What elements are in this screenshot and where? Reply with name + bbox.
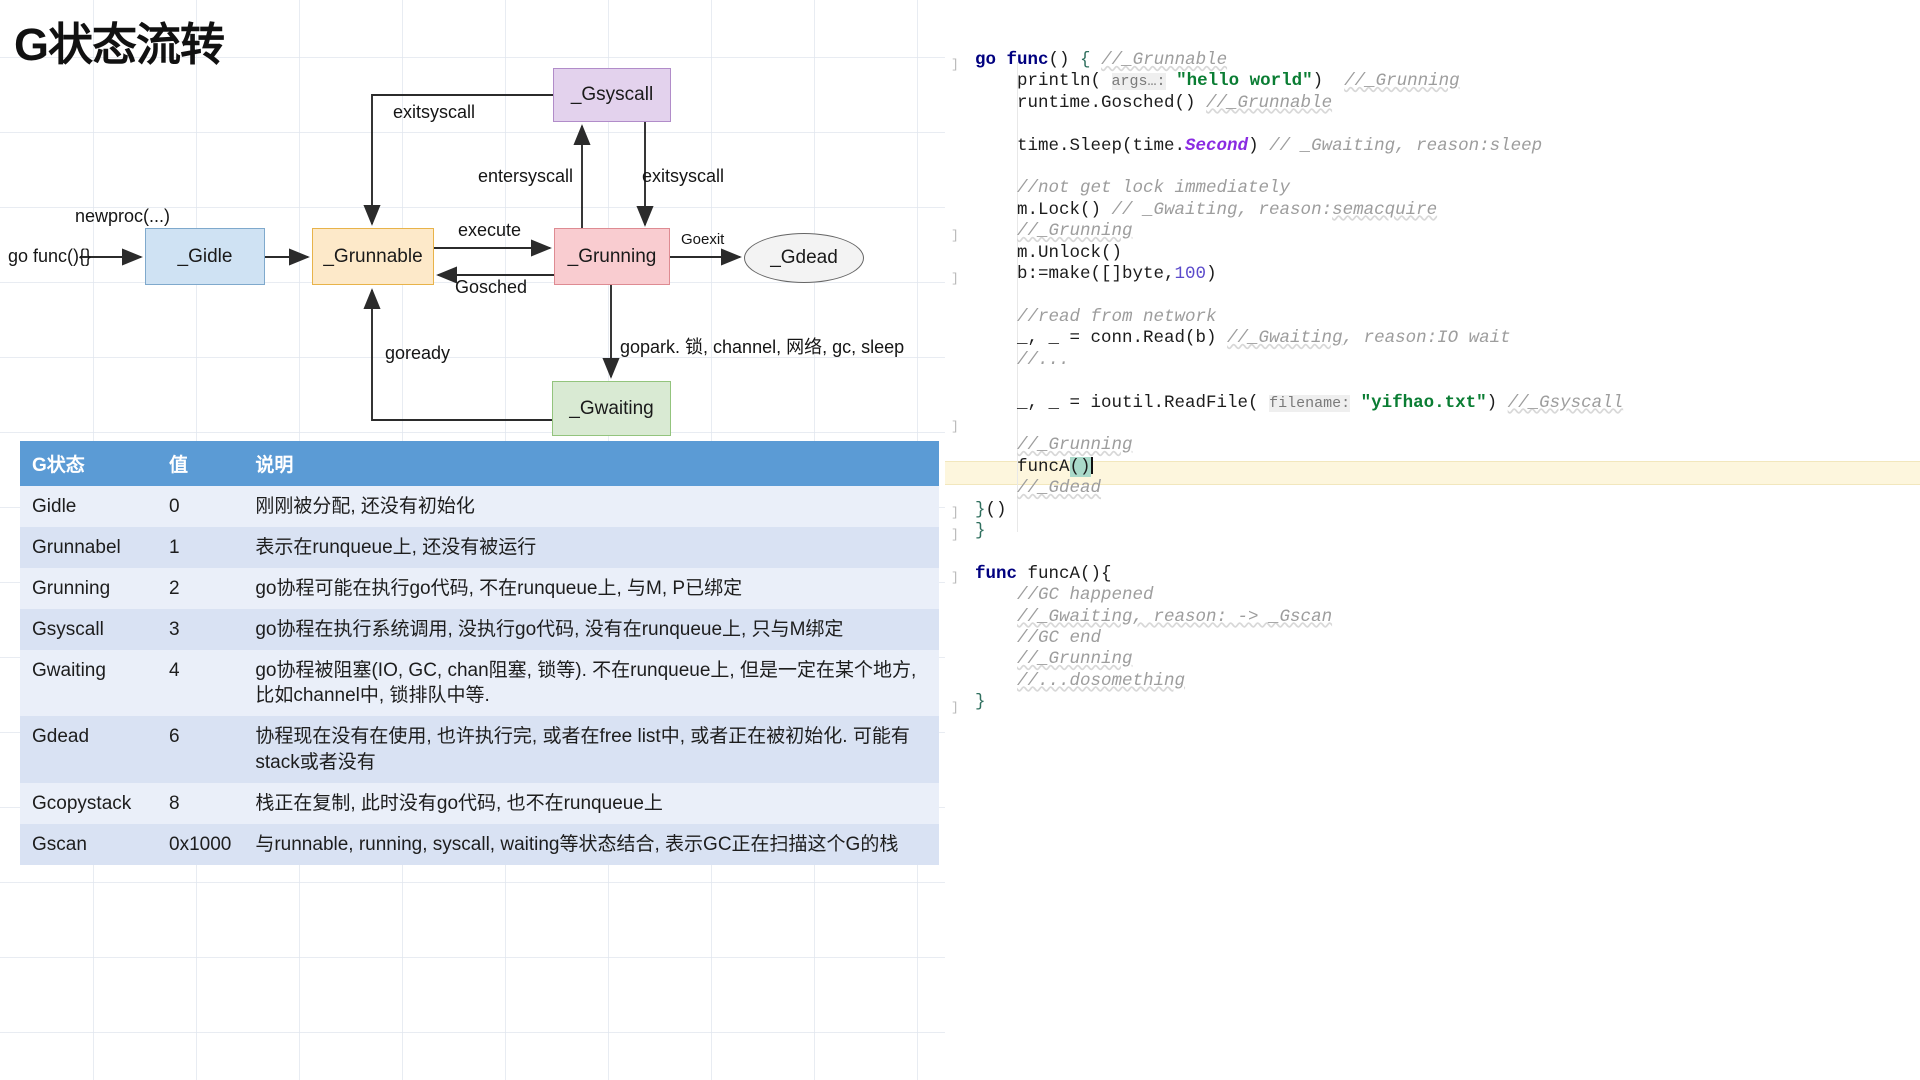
table-row: Grunning 2 go协程可能在执行go代码, 不在runqueue上, 与… <box>20 568 939 609</box>
node-label: _Gwaiting <box>569 398 654 420</box>
column-header-state: G状态 <box>20 441 157 486</box>
fold-marker[interactable]: ] <box>951 57 959 72</box>
cell-value: 4 <box>157 650 243 716</box>
node-grunnable[interactable]: _Grunnable <box>312 228 434 285</box>
edge-label-gosched: Gosched <box>455 277 527 298</box>
editor-gutter[interactable]: ] ] ] ] ] ] ] ] <box>945 0 973 1080</box>
g-state-table: G状态 值 说明 Gidle 0 刚刚被分配, 还没有初始化 Grunnabel… <box>20 441 939 865</box>
fold-marker[interactable]: ] <box>951 419 959 434</box>
slide-left-panel: G状态流转 <box>0 0 945 1080</box>
node-label: _Grunnable <box>323 246 422 268</box>
node-label: _Gdead <box>770 247 838 269</box>
edge-label-exitsyscall-top: exitsyscall <box>393 102 475 123</box>
edge-label-entersyscall: entersyscall <box>478 166 573 187</box>
node-label: _Gsyscall <box>571 84 653 106</box>
edge-label-goexit: Goexit <box>681 231 724 248</box>
cell-value: 6 <box>157 716 243 782</box>
table-row: Gscan 0x1000 与runnable, running, syscall… <box>20 824 939 865</box>
cell-value: 0x1000 <box>157 824 243 865</box>
cell-state: Gsyscall <box>20 609 157 650</box>
cell-value: 2 <box>157 568 243 609</box>
edge-label-exitsyscall-right: exitsyscall <box>642 166 724 187</box>
table-row: Gdead 6 协程现在没有在使用, 也许执行完, 或者在free list中,… <box>20 716 939 782</box>
table-row: Gidle 0 刚刚被分配, 还没有初始化 <box>20 486 939 527</box>
cell-value: 8 <box>157 783 243 824</box>
node-grunning[interactable]: _Grunning <box>554 228 670 285</box>
table-row: Gcopystack 8 栈正在复制, 此时没有go代码, 也不在runqueu… <box>20 783 939 824</box>
cell-desc: go协程被阻塞(IO, GC, chan阻塞, 锁等). 不在runqueue上… <box>243 650 939 716</box>
cell-state: Gwaiting <box>20 650 157 716</box>
node-gidle[interactable]: _Gidle <box>145 228 265 285</box>
fold-marker[interactable]: ] <box>951 700 959 715</box>
edge-label-gopark: gopark. 锁, channel, 网络, gc, sleep <box>620 333 904 359</box>
cell-desc: 与runnable, running, syscall, waiting等状态结… <box>243 824 939 865</box>
fold-marker[interactable]: ] <box>951 271 959 286</box>
cell-desc: 协程现在没有在使用, 也许执行完, 或者在free list中, 或者正在被初始… <box>243 716 939 782</box>
edge-label-entry: go func(){} <box>8 246 91 267</box>
source-code[interactable]: go func() { //_Grunnable println( args…:… <box>975 50 1623 714</box>
code-editor-panel[interactable]: ] ] ] ] ] ] ] ] go func() { //_Grunnable… <box>945 0 1920 1080</box>
cell-state: Gscan <box>20 824 157 865</box>
cell-value: 0 <box>157 486 243 527</box>
cell-desc: go协程可能在执行go代码, 不在runqueue上, 与M, P已绑定 <box>243 568 939 609</box>
cell-desc: 表示在runqueue上, 还没有被运行 <box>243 527 939 568</box>
cell-desc: 栈正在复制, 此时没有go代码, 也不在runqueue上 <box>243 783 939 824</box>
table-row: Grunnabel 1 表示在runqueue上, 还没有被运行 <box>20 527 939 568</box>
fold-marker[interactable]: ] <box>951 570 959 585</box>
cell-state: Grunning <box>20 568 157 609</box>
cell-state: Gidle <box>20 486 157 527</box>
column-header-value: 值 <box>157 441 243 486</box>
cell-desc: go协程在执行系统调用, 没执行go代码, 没有在runqueue上, 只与M绑… <box>243 609 939 650</box>
cell-value: 3 <box>157 609 243 650</box>
edge-label-execute: execute <box>458 220 521 241</box>
node-gsyscall[interactable]: _Gsyscall <box>553 68 671 122</box>
fold-marker[interactable]: ] <box>951 228 959 243</box>
node-gdead[interactable]: _Gdead <box>744 233 864 283</box>
cell-state: Gcopystack <box>20 783 157 824</box>
table-row: Gsyscall 3 go协程在执行系统调用, 没执行go代码, 没有在runq… <box>20 609 939 650</box>
cell-state: Grunnabel <box>20 527 157 568</box>
cell-state: Gdead <box>20 716 157 782</box>
cell-value: 1 <box>157 527 243 568</box>
node-label: _Grunning <box>568 246 657 268</box>
cell-desc: 刚刚被分配, 还没有初始化 <box>243 486 939 527</box>
table-header-row: G状态 值 说明 <box>20 441 939 486</box>
fold-marker[interactable]: ] <box>951 505 959 520</box>
fold-marker[interactable]: ] <box>951 527 959 542</box>
node-label: _Gidle <box>178 246 233 268</box>
state-flow-diagram: _Gidle _Grunnable _Grunning _Gsyscall _G… <box>0 0 945 445</box>
table-row: Gwaiting 4 go协程被阻塞(IO, GC, chan阻塞, 锁等). … <box>20 650 939 716</box>
node-gwaiting[interactable]: _Gwaiting <box>552 381 671 436</box>
column-header-desc: 说明 <box>243 441 939 486</box>
edge-label-goready: goready <box>385 343 450 364</box>
edge-label-newproc: newproc(...) <box>75 206 170 227</box>
